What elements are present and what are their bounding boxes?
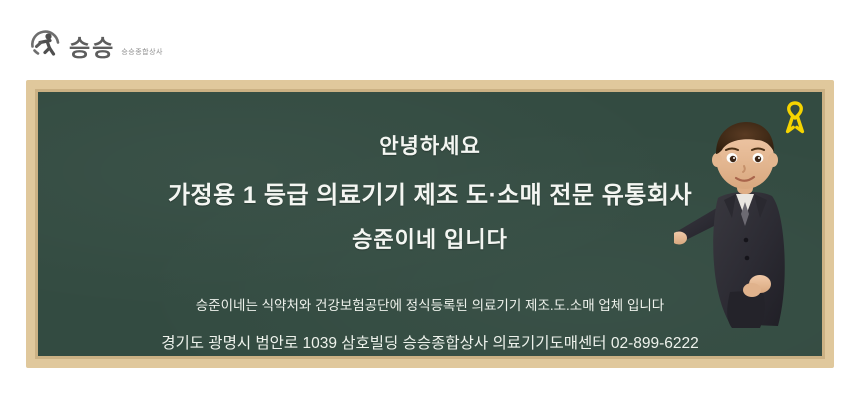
circular-figure-emblem-icon	[28, 26, 64, 58]
yellow-ribbon-icon	[782, 100, 808, 134]
chalkboard-frame: 안녕하세요 가정용 1 등급 의료기기 제조 도·소매 전문 유통회사 승준이네…	[26, 80, 834, 368]
site-logo[interactable]: 승승 승승종합상사	[28, 26, 162, 58]
child-photo	[674, 114, 814, 329]
page-header: 승승 승승종합상사	[0, 0, 860, 80]
logo-wordmark: 승승	[69, 37, 115, 60]
board-subline-address-phone: 경기도 광명시 범안로 1039 삼호빌딩 승승종합상사 의료기기도매센터 02…	[38, 331, 822, 353]
logo-subtext: 승승종합상사	[121, 49, 163, 56]
chalkboard-surface: 안녕하세요 가정용 1 등급 의료기기 제조 도·소매 전문 유통회사 승준이네…	[35, 89, 825, 359]
